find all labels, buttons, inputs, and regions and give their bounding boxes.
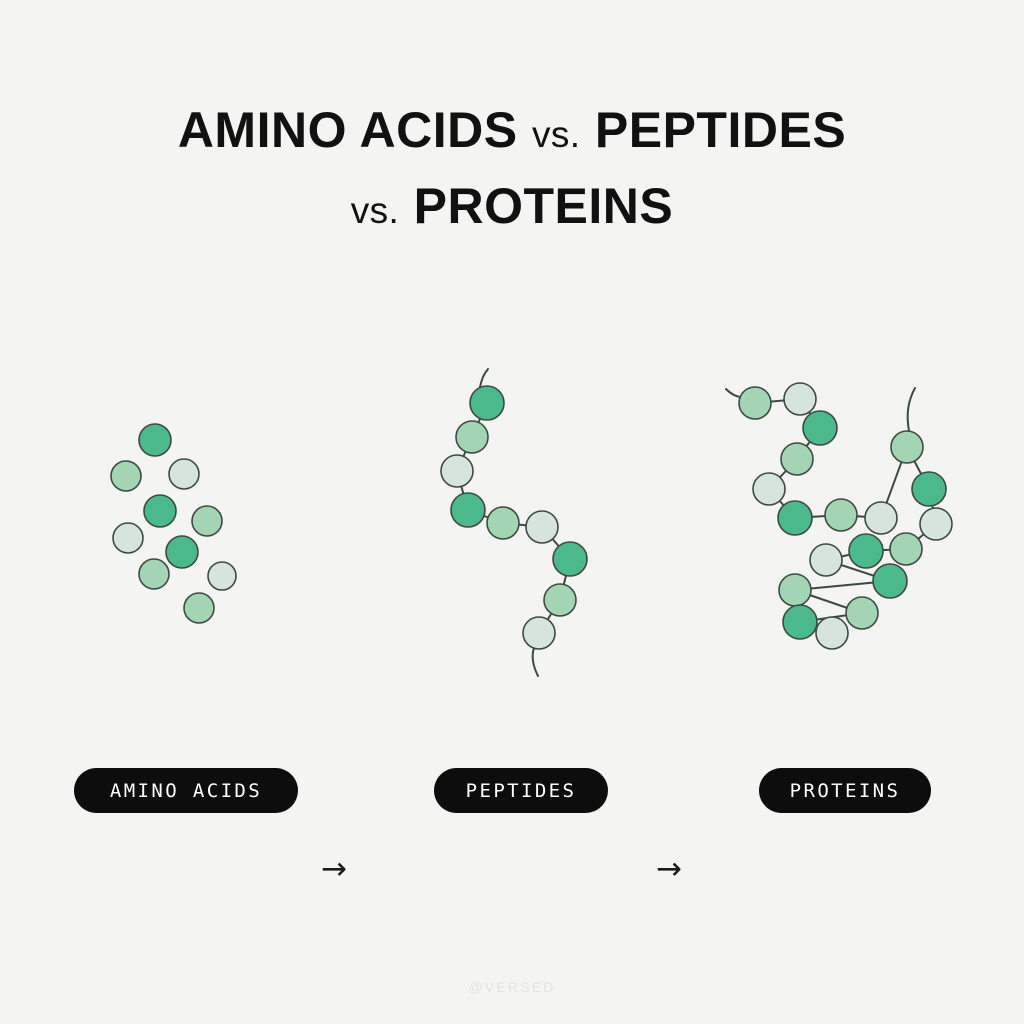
protein-bead-7 <box>865 502 897 534</box>
amino-acid-bead-5 <box>113 523 143 553</box>
protein-bead-12 <box>849 534 883 568</box>
amino-acid-bead-1 <box>111 461 141 491</box>
amino-acid-bead-8 <box>208 562 236 590</box>
protein-bead-1 <box>784 383 816 415</box>
protein-bead-15 <box>779 574 811 606</box>
peptide-bead-3 <box>451 493 485 527</box>
amino-acid-bead-7 <box>139 559 169 589</box>
amino-acid-bead-4 <box>192 506 222 536</box>
proteins-svg <box>710 355 990 695</box>
diagram-row: → → <box>0 355 1024 695</box>
peptide-bead-group <box>441 386 587 649</box>
title-line-1: AMINO ACIDS vs. PEPTIDES <box>0 92 1024 168</box>
amino-acid-bead-3 <box>144 495 176 527</box>
peptide-bead-5 <box>526 511 558 543</box>
protein-bead-10 <box>920 508 952 540</box>
protein-bead-16 <box>846 597 878 629</box>
amino-acid-bead-group <box>111 424 236 623</box>
amino-acid-bead-6 <box>166 536 198 568</box>
peptides-svg <box>400 355 640 695</box>
page-title: AMINO ACIDS vs. PEPTIDES vs. PROTEINS <box>0 92 1024 244</box>
watermark: @VERSED <box>0 979 1024 995</box>
protein-bead-14 <box>873 564 907 598</box>
amino-acids-diagram <box>60 355 310 695</box>
protein-bead-3 <box>781 443 813 475</box>
label-pill-amino-acids[interactable]: AMINO ACIDS <box>74 768 298 813</box>
peptide-bead-6 <box>553 542 587 576</box>
peptide-bead-0 <box>470 386 504 420</box>
arrow-right-icon-2: → <box>641 851 697 887</box>
protein-bead-2 <box>803 411 837 445</box>
peptides-diagram <box>400 355 640 695</box>
arrow-right-icon-1: → <box>306 851 362 887</box>
proteins-diagram <box>710 355 990 695</box>
title-line-2: vs. PROTEINS <box>0 168 1024 244</box>
peptide-bead-2 <box>441 455 473 487</box>
protein-bead-18 <box>816 617 848 649</box>
protein-bead-group <box>739 383 952 649</box>
amino-acids-svg <box>60 355 310 695</box>
infographic-canvas: AMINO ACIDS vs. PEPTIDES vs. PROTEINS <box>0 0 1024 1024</box>
protein-bead-4 <box>753 473 785 505</box>
amino-acid-bead-9 <box>184 593 214 623</box>
protein-bead-17 <box>783 605 817 639</box>
peptide-bead-7 <box>544 584 576 616</box>
protein-bead-8 <box>891 431 923 463</box>
label-pill-peptides-text: PEPTIDES <box>466 780 577 802</box>
protein-bead-13 <box>810 544 842 576</box>
title-amino-acids: AMINO ACIDS <box>178 102 518 158</box>
amino-acid-bead-2 <box>169 459 199 489</box>
protein-bead-11 <box>890 533 922 565</box>
title-vs-1: vs. <box>532 114 580 155</box>
peptide-bead-8 <box>523 617 555 649</box>
protein-bead-9 <box>912 472 946 506</box>
title-vs-2: vs. <box>351 190 399 231</box>
peptide-bead-1 <box>456 421 488 453</box>
protein-bead-5 <box>778 501 812 535</box>
protein-bead-0 <box>739 387 771 419</box>
label-pill-proteins-text: PROTEINS <box>790 780 901 802</box>
title-peptides: PEPTIDES <box>595 102 846 158</box>
label-pill-proteins[interactable]: PROTEINS <box>759 768 931 813</box>
peptide-bead-4 <box>487 507 519 539</box>
protein-bead-6 <box>825 499 857 531</box>
label-pill-peptides[interactable]: PEPTIDES <box>434 768 608 813</box>
title-proteins: PROTEINS <box>414 178 674 234</box>
label-pill-amino-acids-text: AMINO ACIDS <box>110 780 262 802</box>
amino-acid-bead-0 <box>139 424 171 456</box>
